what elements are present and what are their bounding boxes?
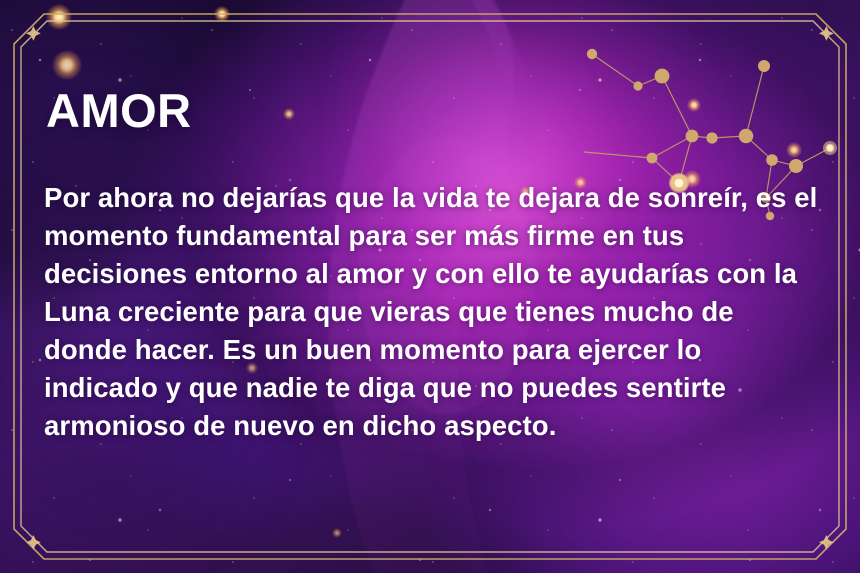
- card-content: AMOR Por ahora no dejarías que la vida t…: [44, 86, 819, 445]
- page-title: AMOR: [46, 86, 819, 135]
- horoscope-card: AMOR Por ahora no dejarías que la vida t…: [0, 0, 860, 573]
- horoscope-body-text: Por ahora no dejarías que la vida te dej…: [44, 179, 819, 445]
